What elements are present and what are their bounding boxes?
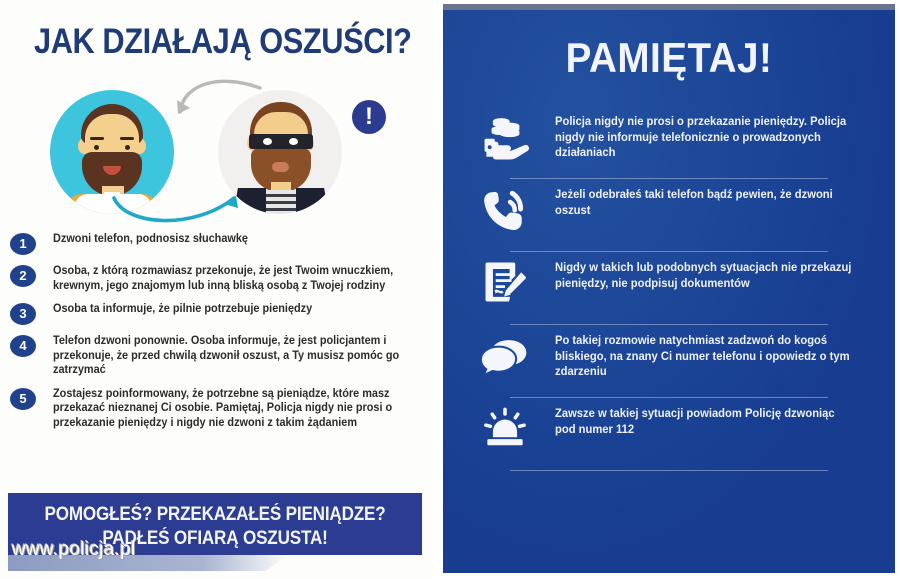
list-item: 1 Dzwoni telefon, podnosisz słuchawkę — [10, 232, 422, 255]
step-text: Osoba ta informuje, że pilnie potrzebuje… — [53, 302, 400, 317]
banner-line-1: POMOGŁEŚ? PRZEKAZAŁEŚ PIENIĄDZE? — [29, 504, 402, 526]
step-text: Zostajesz poinformowany, że potrzebne są… — [53, 387, 400, 431]
fraudster-eye-mask — [249, 134, 313, 149]
step-number: 5 — [10, 388, 36, 410]
tip-text: Po takiej rozmowie natychmiast zadzwoń d… — [555, 325, 853, 380]
list-item: Nigdy w takich lub podobnych sytuacjach … — [443, 252, 895, 325]
watermark-text: www.policja.pl — [12, 539, 136, 561]
list-item: Policja nigdy nie prosi o przekazanie pi… — [443, 106, 895, 179]
list-item: 5 Zostajesz poinformowany, że potrzebne … — [10, 387, 422, 431]
coins-in-hand-icon — [477, 108, 533, 164]
fraudster-mouth — [272, 162, 289, 172]
step-text: Osoba, z którą rozmawiasz przekonuje, że… — [53, 264, 400, 293]
fraudster-eye-left — [263, 138, 272, 145]
list-item: 4 Telefon dzwoni ponownie. Osoba informu… — [10, 334, 422, 378]
step-text: Telefon dzwoni ponownie. Osoba informuje… — [53, 334, 400, 378]
step-number: 3 — [10, 303, 36, 325]
step-text: Dzwoni telefon, podnosisz słuchawkę — [53, 232, 400, 247]
step-number: 1 — [10, 233, 36, 255]
remember-title: PAMIĘTAJ! — [461, 34, 877, 82]
list-item: Po takiej rozmowie natychmiast zadzwoń d… — [443, 325, 895, 398]
list-item: 2 Osoba, z którą rozmawiasz przekonuje, … — [10, 264, 422, 293]
tip-text: Nigdy w takich lub podobnych sytuacjach … — [555, 252, 853, 291]
fraud-steps-list: 1 Dzwoni telefon, podnosisz słuchawkę 2 … — [10, 232, 422, 439]
list-item: Jeżeli odebrałeś taki telefon bądź pewie… — [443, 179, 895, 252]
divider — [510, 470, 828, 471]
speech-bubbles-icon — [477, 327, 533, 383]
victim-eye-left — [94, 145, 99, 150]
advice-list: Policja nigdy nie prosi o przekazanie pi… — [443, 106, 895, 471]
fraudster-coat-right — [296, 188, 332, 214]
alert-badge: ! — [352, 100, 386, 134]
curved-arrow-right-icon — [108, 178, 248, 230]
victim-eyebrow-right — [120, 137, 134, 140]
step-number: 2 — [10, 265, 36, 287]
tip-text: Policja nigdy nie prosi o przekazanie pi… — [555, 106, 853, 161]
right-panel: PAMIĘTAJ! — [443, 10, 895, 573]
tip-text: Jeżeli odebrałeś taki telefon bądź pewie… — [555, 179, 853, 218]
police-siren-icon — [477, 400, 533, 456]
victim-eye-right — [125, 145, 130, 150]
victim-eyebrow-left — [90, 137, 104, 140]
list-item: Zawsze w takiej sytuacji powiadom Policj… — [443, 398, 895, 471]
infographic-page: JAK DZIAŁAJĄ OSZUŚCI? — [0, 0, 900, 579]
fraudster-eye-right — [289, 138, 298, 145]
left-panel: JAK DZIAŁAJĄ OSZUŚCI? — [0, 0, 432, 579]
list-item: 3 Osoba ta informuje, że pilnie potrzebu… — [10, 302, 422, 325]
page-title: JAK DZIAŁAJĄ OSZUŚCI? — [34, 22, 377, 62]
document-pen-icon — [477, 254, 533, 310]
tip-text: Zawsze w takiej sytuacji powiadom Policj… — [555, 398, 853, 437]
step-number: 4 — [10, 335, 36, 357]
fraud-illustration: ! — [22, 72, 422, 222]
ringing-phone-icon — [477, 181, 533, 237]
